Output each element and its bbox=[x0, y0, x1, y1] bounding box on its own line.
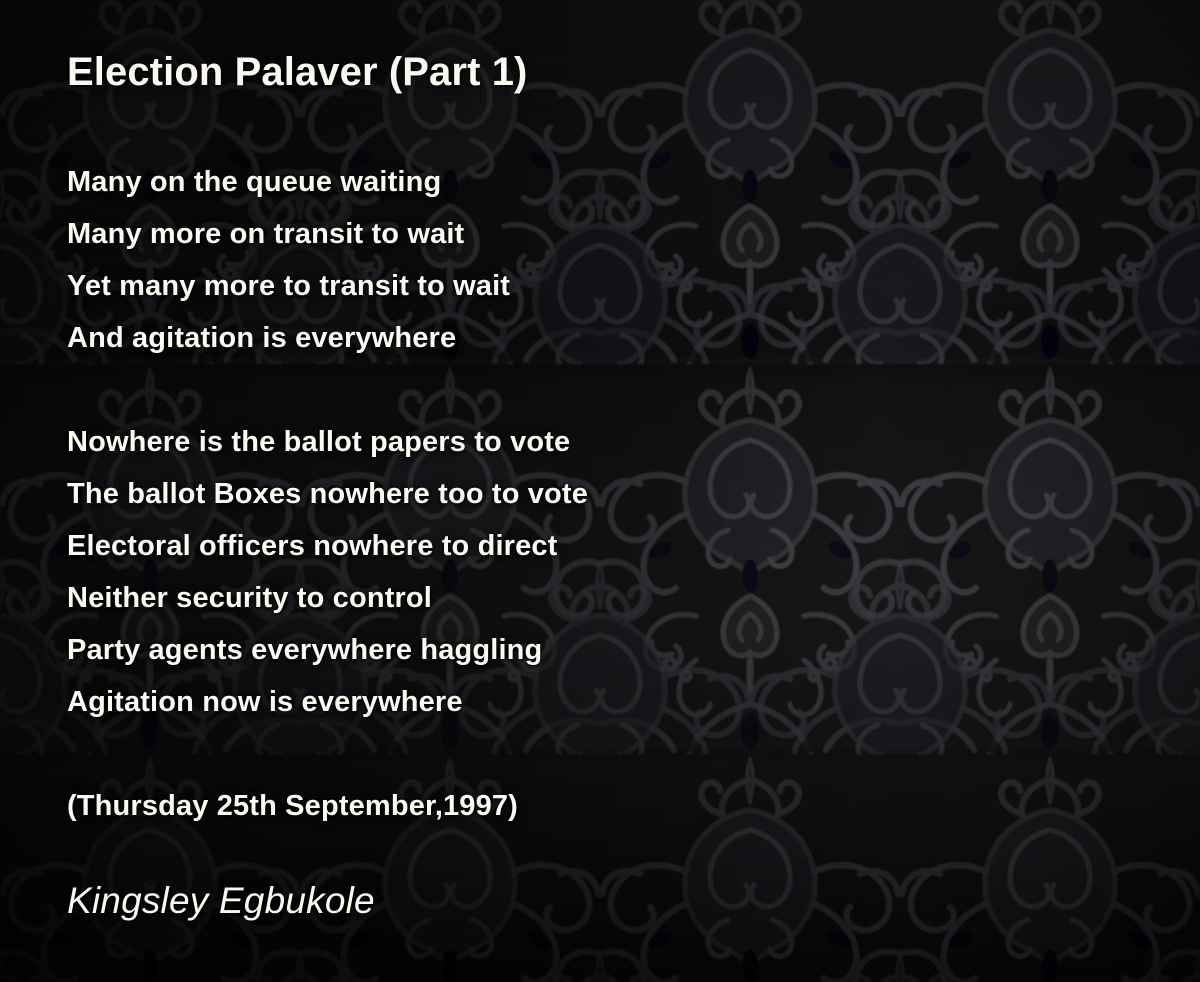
poem-line: Party agents everywhere haggling bbox=[67, 624, 1067, 676]
poem-author-signature: Kingsley Egbukole bbox=[67, 878, 375, 924]
poem-line: And agitation is everywhere bbox=[67, 312, 1067, 364]
poem-line: Neither security to control bbox=[67, 572, 1067, 624]
poem-line: Many on the queue waiting bbox=[67, 156, 1067, 208]
poem-content: Election Palaver (Part 1) Many on the qu… bbox=[67, 0, 1127, 982]
poem-date-line: (Thursday 25th September,1997) bbox=[67, 780, 1067, 832]
poem-line: Electoral officers nowhere to direct bbox=[67, 520, 1067, 572]
page-title: Election Palaver (Part 1) bbox=[67, 50, 527, 94]
stanza-1: Many on the queue waiting Many more on t… bbox=[67, 156, 1067, 364]
poem-body: Many on the queue waiting Many more on t… bbox=[67, 156, 1067, 832]
poem-line: Yet many more to transit to wait bbox=[67, 260, 1067, 312]
poem-line: Many more on transit to wait bbox=[67, 208, 1067, 260]
poem-line: The ballot Boxes nowhere too to vote bbox=[67, 468, 1067, 520]
poem-line: Nowhere is the ballot papers to vote bbox=[67, 416, 1067, 468]
stanza-2: Nowhere is the ballot papers to vote The… bbox=[67, 416, 1067, 728]
poem-line: Agitation now is everywhere bbox=[67, 676, 1067, 728]
poem-image-card: Election Palaver (Part 1) Many on the qu… bbox=[0, 0, 1200, 982]
